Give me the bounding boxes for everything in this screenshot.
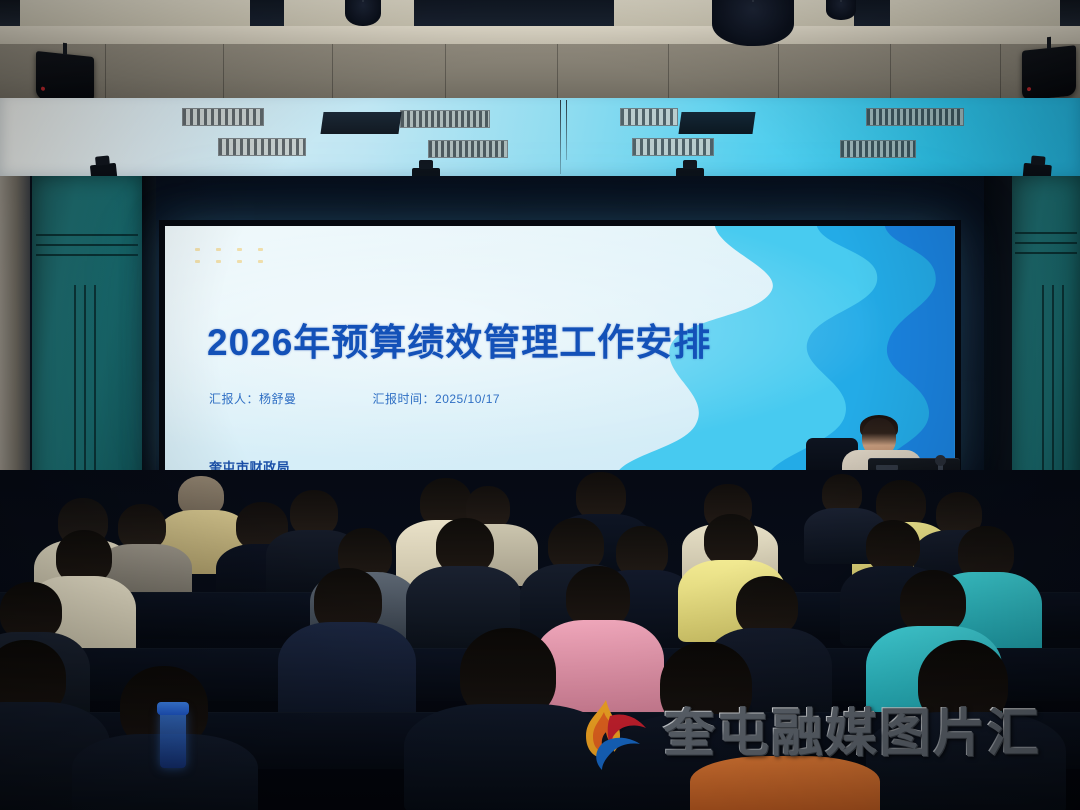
slide-dot-decoration — [195, 248, 263, 263]
hanging-light — [826, 0, 856, 20]
air-vent — [428, 140, 508, 158]
left-wall-pilaster — [32, 176, 142, 496]
air-vent — [866, 108, 964, 126]
air-vent — [218, 138, 306, 156]
ceiling-dark-panel — [320, 112, 401, 134]
slide-meta: 汇报人：杨舒曼 汇报时间：2025/10/17 — [209, 390, 500, 407]
air-vent — [620, 108, 678, 126]
ceiling-band — [0, 26, 1080, 44]
audience-head — [576, 472, 626, 520]
ceiling-speaker — [36, 51, 94, 100]
ceiling — [0, 0, 1080, 100]
pilaster-edge — [142, 176, 156, 506]
hanging-cable — [566, 100, 567, 160]
audience-head — [736, 576, 798, 636]
slide-title: 2026年预算绩效管理工作安排 — [207, 312, 711, 366]
left-wall — [0, 176, 30, 506]
audience-head — [900, 570, 966, 634]
audience-head — [566, 566, 630, 628]
air-vent — [182, 108, 264, 126]
air-vent — [400, 110, 490, 128]
right-wall-pilaster — [1012, 176, 1080, 496]
ceiling-speaker — [1022, 45, 1076, 100]
audience-area — [0, 470, 1080, 810]
audience-body — [404, 704, 616, 810]
lit-soffit — [0, 98, 1080, 182]
slide-date-label: 汇报时间：2025/10/17 — [373, 390, 501, 407]
blue-water-cup — [160, 710, 186, 768]
ceiling-dark-panel — [678, 112, 755, 134]
hanging-cable — [560, 100, 561, 174]
air-vent — [632, 138, 714, 156]
slide-presenter-label: 汇报人：杨舒曼 — [209, 390, 297, 407]
air-vent — [840, 140, 916, 158]
conference-hall-photo: 2026年预算绩效管理工作安排 汇报人：杨舒曼 汇报时间：2025/10/17 … — [0, 0, 1080, 810]
audience-head — [866, 520, 920, 572]
upper-wall-panels — [0, 44, 1080, 100]
hanging-light — [712, 0, 794, 46]
audience-body — [690, 756, 880, 810]
hanging-light — [345, 0, 381, 26]
audience-head — [704, 514, 758, 566]
audience-body — [866, 712, 1066, 810]
